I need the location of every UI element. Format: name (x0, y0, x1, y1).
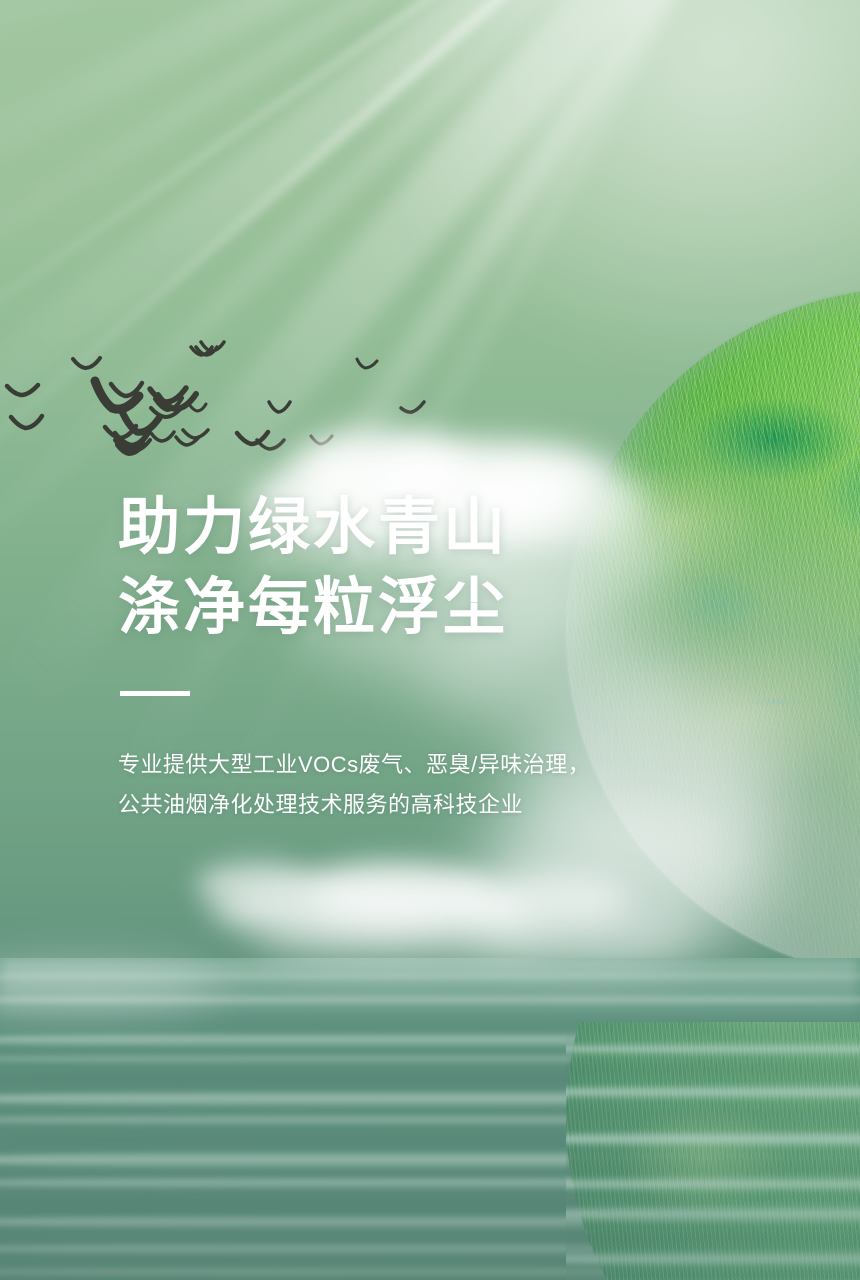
bird-icon (92, 378, 142, 420)
sun-ray (0, 0, 860, 192)
subtitle-line-2: 公共油烟净化处理技术服务的高科技企业 (118, 785, 678, 825)
bird-icon (116, 442, 146, 462)
bird-icon (110, 381, 144, 405)
mist-puff (300, 862, 490, 920)
headline-line-2: 涤净每粒浮尘 (118, 568, 678, 648)
water-shadow-band (0, 1196, 860, 1214)
water-ripple (0, 1214, 860, 1230)
water-surface (0, 958, 860, 1280)
bird-icon (150, 430, 176, 448)
water-ripple (0, 1150, 860, 1170)
sun-ray (0, 0, 860, 339)
mist-puff (460, 872, 630, 926)
bird-icon (154, 396, 184, 418)
bird-icon (188, 402, 208, 416)
bird-icon (355, 357, 379, 373)
water-ripple (0, 994, 860, 1006)
bird-icon (104, 424, 138, 446)
bird-icon (118, 438, 152, 460)
water-ripple (0, 1266, 860, 1278)
mist-puff (470, 905, 700, 965)
hero-banner: 助力绿水青山 涤净每粒浮尘 专业提供大型工业VOCs废气、恶臭/异味治理， 公共… (0, 0, 860, 1280)
bird-icon (114, 432, 150, 456)
bird-icon (10, 414, 44, 436)
water-ripple (0, 1114, 860, 1126)
bird-icon (175, 435, 201, 451)
water-ripple (0, 1242, 860, 1256)
headline-line-1: 助力绿水青山 (118, 488, 678, 568)
sun-glow (370, 0, 860, 360)
water-ripple (0, 1032, 860, 1048)
headline-divider (120, 691, 190, 696)
bird-icon (6, 382, 40, 404)
mist-puff (250, 910, 550, 962)
bird-icon (148, 386, 188, 412)
mist-puff (196, 862, 316, 906)
sun-ray (0, 0, 860, 504)
mist-puff (210, 880, 530, 938)
bird-icon (150, 405, 184, 425)
bird-icon (195, 345, 219, 361)
bird-icon (256, 438, 286, 456)
bird-icon (182, 428, 210, 444)
bird-icon (310, 434, 334, 450)
bird-icon (236, 430, 270, 452)
water-ripple (0, 1176, 860, 1190)
bird-icon (268, 400, 292, 418)
bird-icon (200, 340, 226, 358)
bird-icon (118, 406, 162, 440)
subtitle-line-1: 专业提供大型工业VOCs废气、恶臭/异味治理， (118, 745, 678, 785)
hero-text-block: 助力绿水青山 涤净每粒浮尘 专业提供大型工业VOCs废气、恶臭/异味治理， 公共… (118, 488, 678, 825)
water-shadow-band (0, 1014, 860, 1028)
water-shadow-band (0, 1070, 860, 1088)
water-ripple (0, 1090, 860, 1108)
sun-ray (0, 0, 860, 443)
bird-icon (156, 391, 198, 419)
bird-icon (190, 345, 214, 361)
water-ripple (0, 1054, 860, 1064)
water-shadow-band (0, 1132, 860, 1148)
bird-icon (114, 430, 150, 454)
water-ripple (0, 972, 860, 981)
bird-icon (400, 400, 426, 418)
bird-icon (114, 437, 146, 459)
bird-icon (72, 356, 102, 376)
